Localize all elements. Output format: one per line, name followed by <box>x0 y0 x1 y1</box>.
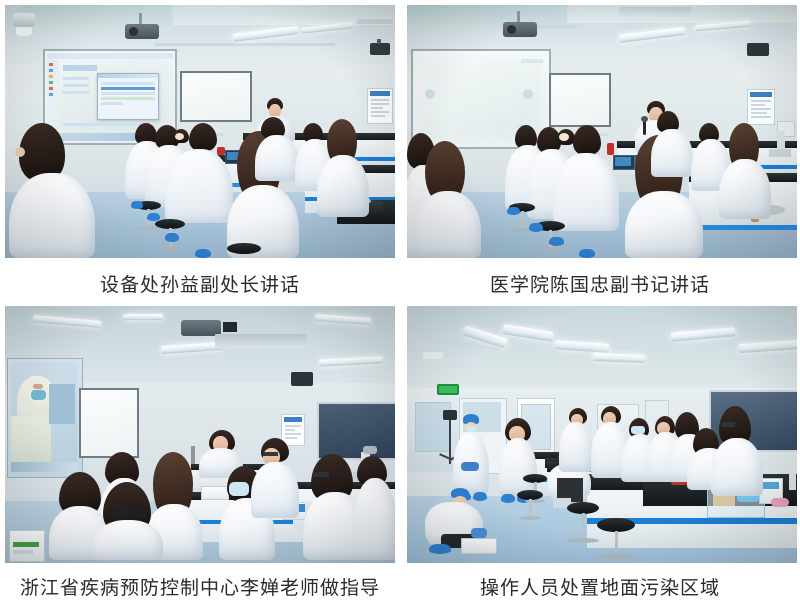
photo-grid: 设备处孙益副处长讲话 <box>0 0 800 611</box>
photo-cell-4: 操作人员处置地面污染区域 <box>400 302 800 611</box>
photo-1 <box>5 5 395 258</box>
photo-4 <box>407 306 797 563</box>
photo-3 <box>5 306 395 563</box>
photo-caption-4: 操作人员处置地面污染区域 <box>405 573 795 603</box>
photo-cell-3: 浙江省疾病预防控制中心李婵老师做指导 <box>0 302 400 611</box>
photo-2 <box>407 5 797 258</box>
photo-cell-1: 设备处孙益副处长讲话 <box>0 0 400 302</box>
photo-cell-2: 医学院陈国忠副书记讲话 <box>400 0 800 302</box>
photo-caption-1: 设备处孙益副处长讲话 <box>5 270 395 300</box>
photo-caption-2: 医学院陈国忠副书记讲话 <box>405 270 795 300</box>
photo-caption-3: 浙江省疾病预防控制中心李婵老师做指导 <box>5 573 395 603</box>
